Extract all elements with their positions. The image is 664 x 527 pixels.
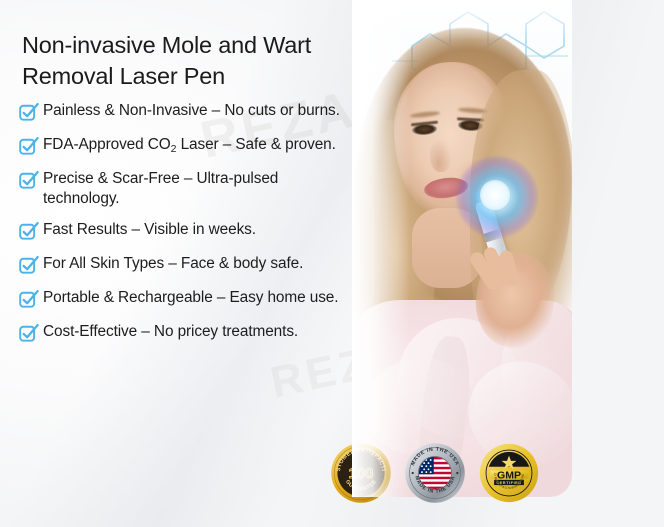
- list-item: Precise & Scar-Free – Ultra-pulsed techn…: [18, 168, 354, 208]
- list-item-label: Cost-Effective – No pricey treatments.: [43, 321, 298, 342]
- list-item-label: Fast Results – Visible in weeks.: [43, 219, 256, 240]
- checkbox-check-icon: [18, 220, 40, 242]
- list-item-label-part: FDA-Approved CO: [43, 136, 171, 153]
- co2-subscript: 2: [171, 143, 177, 155]
- made-in-usa-badge: MADE IN THE USA MADE IN THE USA: [404, 442, 466, 504]
- list-item-label: Precise & Scar-Free – Ultra-pulsed techn…: [43, 168, 354, 208]
- list-item: Fast Results – Visible in weeks.: [18, 219, 354, 242]
- list-item: Painless & Non-Invasive – No cuts or bur…: [18, 100, 354, 123]
- gmp-certified-badge: GMP CERTIFIED GOOD MANUFACTURING PRACTIC…: [478, 442, 540, 504]
- laser-glow-core: [480, 180, 510, 210]
- photo-top-fade: [352, 0, 572, 40]
- benefits-list: Painless & Non-Invasive – No cuts or bur…: [18, 100, 354, 355]
- list-item-label: FDA-Approved CO2 Laser – Safe & proven.: [43, 134, 336, 155]
- list-item: FDA-Approved CO2 Laser – Safe & proven.: [18, 134, 354, 157]
- list-item-label: For All Skin Types – Face & body safe.: [43, 253, 303, 274]
- product-feature-poster: REZA REZA: [0, 0, 664, 527]
- list-item-label: Portable & Rechargeable – Easy home use.: [43, 287, 338, 308]
- list-item: For All Skin Types – Face & body safe.: [18, 253, 354, 276]
- checkbox-check-icon: [18, 288, 40, 310]
- checkbox-check-icon: [18, 322, 40, 344]
- nose: [430, 138, 452, 172]
- list-item: Cost-Effective – No pricey treatments.: [18, 321, 354, 344]
- checkbox-check-icon: [18, 101, 40, 123]
- checkbox-check-icon: [18, 135, 40, 157]
- list-item: Portable & Rechargeable – Easy home use.: [18, 287, 354, 310]
- checkbox-check-icon: [18, 254, 40, 276]
- photo-left-fade: [352, 0, 410, 497]
- product-hero-photo: [352, 0, 572, 497]
- page-title: Non-invasive Mole and Wart Removal Laser…: [22, 30, 352, 93]
- list-item-label: Painless & Non-Invasive – No cuts or bur…: [43, 100, 340, 121]
- list-item-label-part: Laser – Safe & proven.: [176, 136, 335, 153]
- checkbox-check-icon: [18, 169, 40, 191]
